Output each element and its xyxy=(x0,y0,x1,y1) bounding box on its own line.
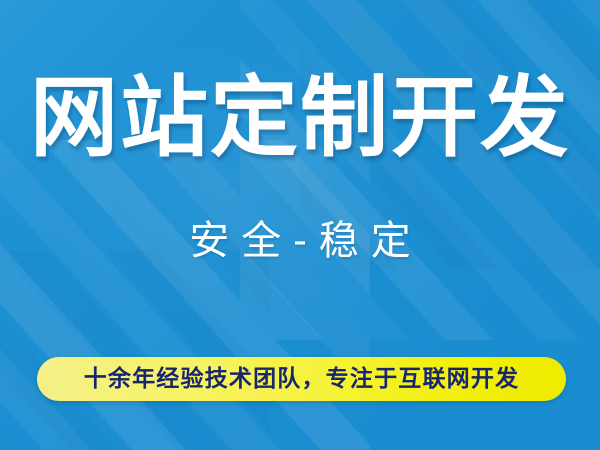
promo-pill-label: 十余年经验技术团队，专注于互联网开发 xyxy=(84,366,520,392)
promo-banner: 网站定制开发 安全-稳定 十余年经验技术团队，专注于互联网开发 xyxy=(0,0,600,450)
banner-subheadline: 安全-稳定 xyxy=(0,216,600,266)
banner-content: 网站定制开发 安全-稳定 十余年经验技术团队，专注于互联网开发 xyxy=(0,0,600,450)
banner-headline: 网站定制开发 xyxy=(0,70,600,166)
promo-pill: 十余年经验技术团队，专注于互联网开发 xyxy=(37,357,566,401)
